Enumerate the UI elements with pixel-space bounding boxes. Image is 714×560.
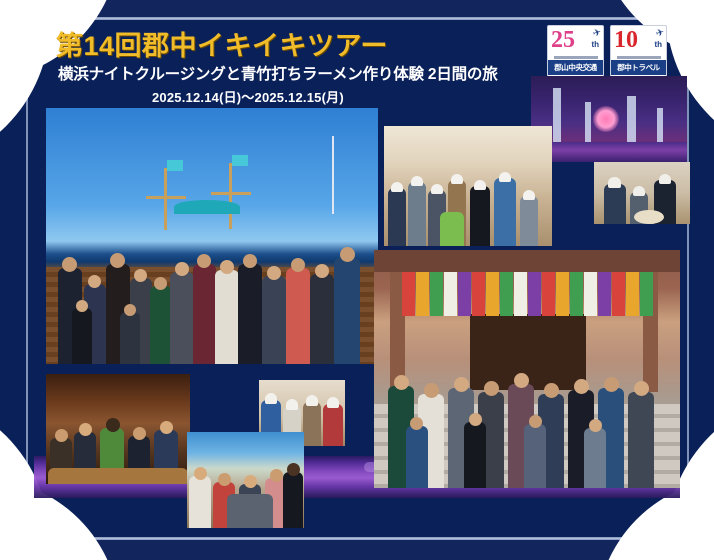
logo-company-name-25: 郡山中央交通 <box>548 60 603 75</box>
photo-ramen-workshop <box>384 126 552 246</box>
ferris-wheel-icon <box>593 106 619 132</box>
logo-divider <box>554 56 598 59</box>
logo-gunchu-travel: 10 ✈ th 郡中トラベル <box>610 25 667 77</box>
anniversary-logos: 25 ✈ th 郡山中央交通 10 ✈ th 郡中トラベル <box>547 25 667 77</box>
airplane-icon: ✈ <box>591 27 602 40</box>
frame-hairline-top <box>0 17 714 20</box>
poster-subtitle: 横浜ナイトクルージングと青竹打ちラーメン作り体験 2日間の旅 <box>58 62 498 84</box>
poster-dates: 2025.12.14(日)～2025.12.15(月) <box>152 87 344 106</box>
poster-canvas: 第14回郡中イキイキツアー 横浜ナイトクルージングと青竹打ちラーメン作り体験 2… <box>34 22 680 520</box>
logo-number-25: 25 <box>551 27 575 53</box>
logo-gunzan-chuo-kotsu: 25 ✈ th 郡山中央交通 <box>547 25 604 77</box>
landmark-tower <box>553 88 561 144</box>
poster-title: 第14回郡中イキイキツアー <box>56 24 388 63</box>
logo-suffix-10: th <box>654 40 662 49</box>
logo-company-name-10: 郡中トラベル <box>611 60 666 75</box>
photo-group-temple-steps <box>374 250 680 488</box>
logo-number-10: 10 <box>614 27 638 53</box>
photo-yokohama-night-cityscape <box>531 76 687 162</box>
tour-poster: 第14回郡中イキイキツアー 横浜ナイトクルージングと青竹打ちラーメン作り体験 2… <box>0 0 714 560</box>
photo-group-ship-deck <box>46 108 378 364</box>
airplane-icon: ✈ <box>654 27 665 40</box>
photo-dinner-table <box>187 432 304 528</box>
frame-hairline-bottom <box>0 537 714 540</box>
logo-divider <box>617 56 661 59</box>
photo-ramen-kitchen-closeup <box>594 162 690 224</box>
photo-banquet-dinner <box>46 374 190 484</box>
logo-suffix-25: th <box>591 40 599 49</box>
